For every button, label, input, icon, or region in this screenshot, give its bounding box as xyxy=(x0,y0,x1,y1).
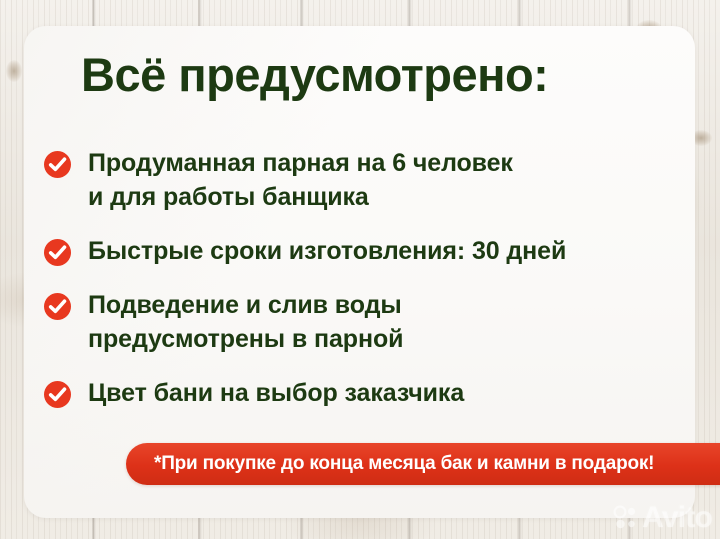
avito-dots-icon xyxy=(613,505,639,531)
page-title: Всё предусмотрено: xyxy=(81,48,548,102)
avito-wordmark: Avito xyxy=(642,503,712,533)
poster-image: Всё предусмотрено: Продуманная парная на… xyxy=(0,0,720,539)
check-circle-icon xyxy=(44,293,71,320)
list-item-text: Продуманная парная на 6 человек и для ра… xyxy=(88,146,513,214)
check-circle-icon xyxy=(44,239,71,266)
list-item: Цвет бани на выбор заказчика xyxy=(44,376,644,410)
feature-list: Продуманная парная на 6 человек и для ра… xyxy=(44,146,644,430)
list-item-line: Подведение и слив воды xyxy=(88,291,402,319)
promo-banner-text: *При покупке до конца месяца бак и камни… xyxy=(154,453,654,475)
list-item: Продуманная парная на 6 человек и для ра… xyxy=(44,146,644,214)
promo-banner: *При покупке до конца месяца бак и камни… xyxy=(126,443,720,485)
list-item-text: Быстрые сроки изготовления: 30 дней xyxy=(88,234,566,268)
list-item-line: Продуманная парная на 6 человек xyxy=(88,149,513,177)
list-item-line: Цвет бани на выбор заказчика xyxy=(88,379,464,407)
list-item-line: предусмотрены в парной xyxy=(88,325,403,353)
list-item-text: Цвет бани на выбор заказчика xyxy=(88,376,464,410)
list-item-line: и для работы банщика xyxy=(88,183,369,211)
list-item: Быстрые сроки изготовления: 30 дней xyxy=(44,234,644,268)
list-item-text: Подведение и слив воды предусмотрены в п… xyxy=(88,288,403,356)
wood-knot-icon xyxy=(6,60,22,82)
list-item-line: Быстрые сроки изготовления: 30 дней xyxy=(88,237,566,265)
check-circle-icon xyxy=(44,151,71,178)
check-circle-icon xyxy=(44,381,71,408)
list-item: Подведение и слив воды предусмотрены в п… xyxy=(44,288,644,356)
avito-watermark: Avito xyxy=(613,503,712,533)
